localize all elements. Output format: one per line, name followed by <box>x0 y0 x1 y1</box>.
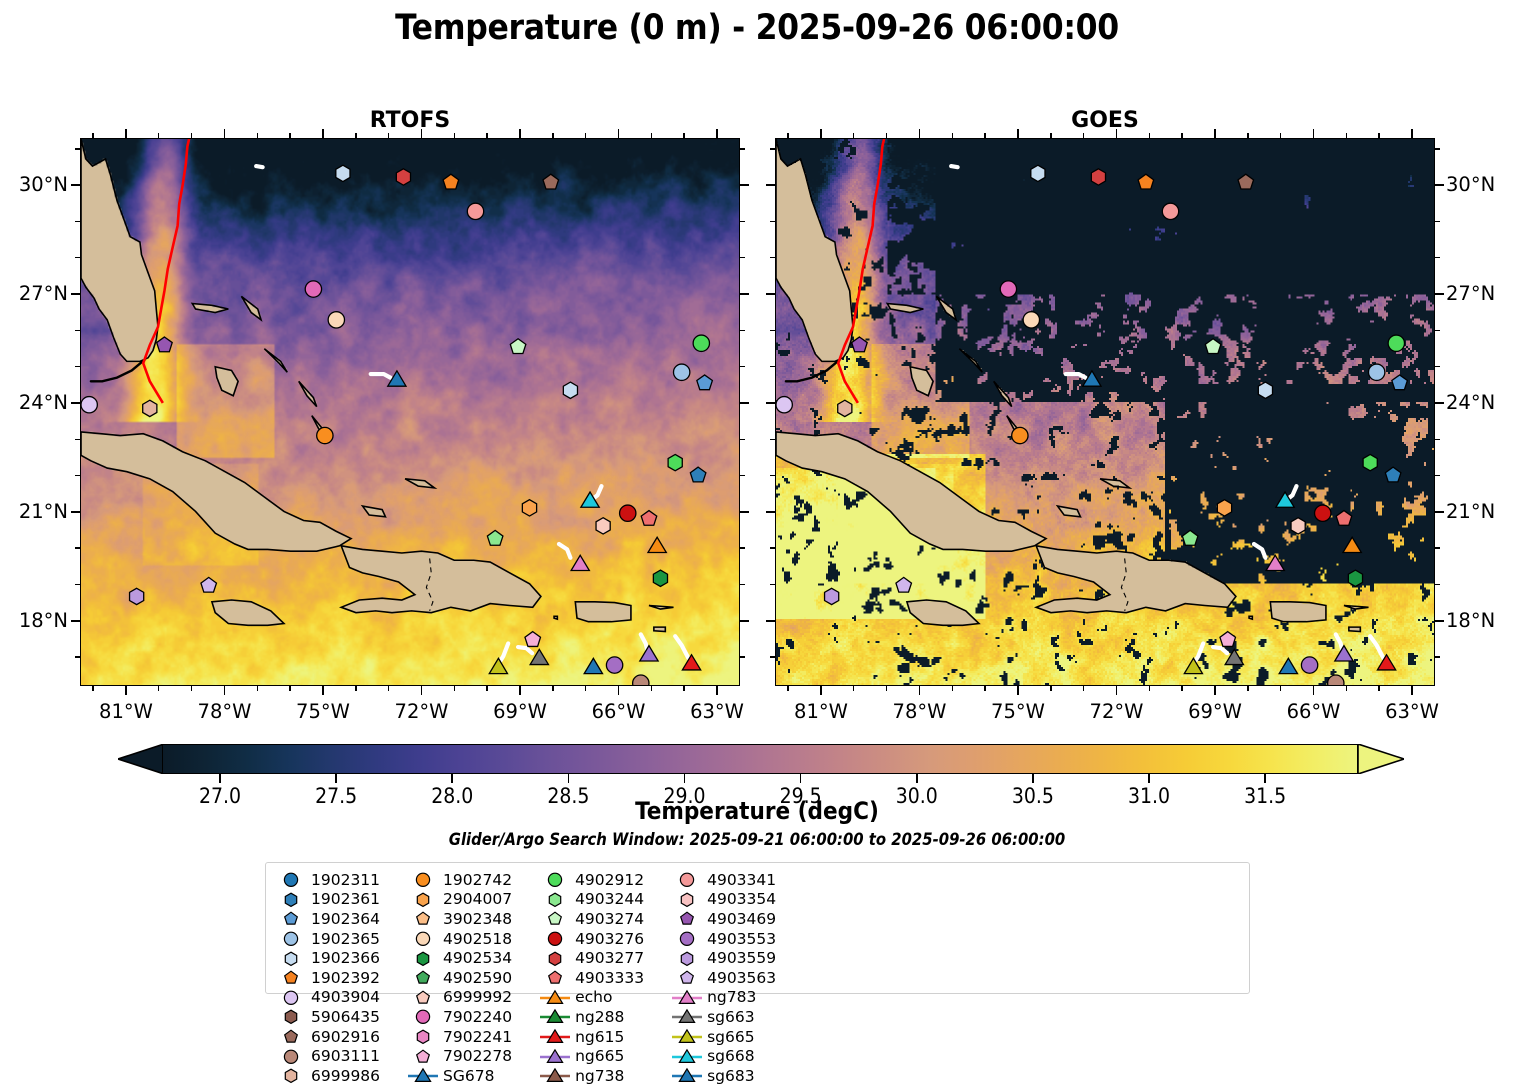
legend-marker-hexagon-icon <box>274 949 308 968</box>
legend-item-ng665[interactable]: ng665 <box>538 1046 644 1066</box>
legend-label: 4903274 <box>572 910 644 928</box>
legend-item-3902348[interactable]: 3902348 <box>406 909 512 929</box>
map-marker-1902366b[interactable] <box>563 382 577 398</box>
glider-track <box>559 544 570 558</box>
coastline <box>936 296 956 320</box>
map-marker-7902278[interactable] <box>525 632 541 647</box>
legend-label: 2904007 <box>440 890 512 908</box>
legend-marker-triangle-icon <box>670 1047 704 1066</box>
map-marker-4902518[interactable] <box>328 312 344 328</box>
colorbar-tick <box>568 774 570 783</box>
y-tick-right <box>1435 293 1444 295</box>
map-marker-4902534[interactable] <box>1348 570 1362 586</box>
coastline <box>241 296 261 320</box>
legend-item-echo[interactable]: echo <box>538 988 644 1008</box>
map-marker-7902240[interactable] <box>305 281 321 297</box>
legend-label: ng288 <box>572 1008 624 1026</box>
y-tick-right <box>740 402 749 404</box>
x-tick <box>1313 686 1315 695</box>
legend-item-4903276[interactable]: 4903276 <box>538 929 644 949</box>
map-marker-4903244[interactable] <box>487 530 503 545</box>
legend-item-6999992[interactable]: 6999992 <box>406 988 512 1008</box>
legend-label: ng665 <box>572 1047 624 1065</box>
coastline <box>363 506 386 517</box>
colorbar-tick <box>1264 774 1266 783</box>
legend-item-1902392[interactable]: 1902392 <box>274 968 380 988</box>
legend-label: 4902518 <box>440 930 512 948</box>
x-tick-label: 72°W <box>1076 700 1156 723</box>
map-marker-1902366[interactable] <box>336 165 350 181</box>
legend-marker-triangle-icon <box>670 988 704 1007</box>
x-minor-tick <box>158 686 159 691</box>
legend-marker-hexagon-icon <box>538 949 572 968</box>
map-marker-4903563[interactable] <box>201 577 217 592</box>
legend-item-4903341[interactable]: 4903341 <box>670 870 776 890</box>
legend-label: 6903111 <box>308 1047 380 1065</box>
map-marker-6999986[interactable] <box>838 400 852 416</box>
y-tick <box>71 511 80 513</box>
legend-label: 1902361 <box>308 890 380 908</box>
map-marker-4902912[interactable] <box>693 335 709 351</box>
map-marker-1902364[interactable] <box>1392 375 1408 390</box>
colorbar[interactable]: 27.027.528.028.529.029.530.030.531.031.5 <box>118 744 1402 774</box>
y-minor-tick-right <box>740 439 745 440</box>
legend-item-6903111[interactable]: 6903111 <box>274 1046 380 1066</box>
legend-label: 6999992 <box>440 988 512 1006</box>
map-marker-4902912[interactable] <box>1388 335 1404 351</box>
legend-label: 7902278 <box>440 1047 512 1065</box>
legend-marker-pentagon-icon <box>406 968 440 987</box>
map-marker-ng665[interactable] <box>1335 646 1353 661</box>
map-marker-7902278[interactable] <box>1220 632 1236 647</box>
map-marker-4903277[interactable] <box>396 169 410 185</box>
legend-column: ng783sg663sg665sg668sg683 <box>670 988 776 1086</box>
map-marker-4902912b[interactable] <box>668 454 682 470</box>
map-marker-4902912b[interactable] <box>1363 454 1377 470</box>
map-marker-4902518[interactable] <box>1023 312 1039 328</box>
coastline <box>776 139 853 361</box>
y-tick-label-right: 30°N <box>1446 173 1495 196</box>
y-minor-tick-right <box>740 475 745 476</box>
map-marker-6902916[interactable] <box>1238 174 1254 189</box>
map-marker-sg665[interactable] <box>489 658 507 673</box>
legend-marker-circle-icon <box>274 929 308 948</box>
map-marker-4903277[interactable] <box>1091 169 1105 185</box>
map-marker-echo[interactable] <box>648 537 666 552</box>
legend-label: 7902240 <box>440 1008 512 1026</box>
x-tick-label: 81°W <box>781 700 861 723</box>
legend-marker-triangle-icon <box>538 1027 572 1046</box>
legend-label: ng738 <box>572 1067 624 1085</box>
y-tick-right <box>1435 511 1444 513</box>
legend-marker-triangle-icon <box>670 1066 704 1085</box>
y-tick-right <box>1435 402 1444 404</box>
map-marker-6902916[interactable] <box>543 174 559 189</box>
legend-marker-pentagon-icon <box>538 968 572 987</box>
map-marker-2904007[interactable] <box>522 500 536 516</box>
legend-label: 1902742 <box>440 871 512 889</box>
y-tick <box>71 620 80 622</box>
legend-marker-hexagon-icon <box>274 890 308 909</box>
map-marker-6903111[interactable] <box>1328 675 1344 685</box>
y-tick-label-left: 18°N <box>0 609 68 632</box>
x-tick <box>421 686 423 695</box>
legend-label: 4903277 <box>572 949 644 967</box>
map-marker-sg683[interactable] <box>1279 658 1297 673</box>
legend-item-4903244[interactable]: 4903244 <box>538 890 644 910</box>
legend-item-sg668[interactable]: sg668 <box>670 1046 776 1066</box>
map-marker-4903341[interactable] <box>1162 203 1178 219</box>
legend-item-4903559[interactable]: 4903559 <box>670 948 776 968</box>
x-minor-tick <box>1083 686 1084 691</box>
legend-item-ng783[interactable]: ng783 <box>670 988 776 1008</box>
gulf-stream-contour <box>143 139 189 403</box>
legend-item-5906435[interactable]: 5906435 <box>274 1007 380 1027</box>
legend-marker-circle-icon <box>670 929 704 948</box>
map-marker-4903904[interactable] <box>81 397 97 413</box>
map-marker-2904007[interactable] <box>1217 500 1231 516</box>
legend-item-1902366[interactable]: 1902366 <box>274 948 380 968</box>
legend-marker-pentagon-icon <box>670 968 704 987</box>
colorbar-arrow-max <box>1358 744 1404 774</box>
legend[interactable]: 1902311190236119023641902365190236619023… <box>265 862 1250 994</box>
coastline <box>776 432 1046 551</box>
colorbar-tick <box>916 774 918 783</box>
legend-marker-pentagon-icon <box>538 909 572 928</box>
y-tick <box>71 402 80 404</box>
y-tick-label-right: 18°N <box>1446 609 1495 632</box>
map-marker-1902365[interactable] <box>1368 364 1384 380</box>
coastline <box>341 546 541 613</box>
x-tick-label: 78°W <box>184 700 264 723</box>
legend-item-1902364[interactable]: 1902364 <box>274 909 380 929</box>
legend-marker-pentagon-icon <box>406 988 440 1007</box>
search-window-caption: Glider/Argo Search Window: 2025-09-21 06… <box>0 830 1514 849</box>
map-marker-ng665[interactable] <box>640 646 658 661</box>
x-tick-label: 75°W <box>283 700 363 723</box>
map-marker-4903559[interactable] <box>130 588 144 604</box>
legend-column-gap <box>776 870 802 988</box>
map-marker-ng615[interactable] <box>682 655 700 670</box>
legend-marker-hexagon-icon <box>406 949 440 968</box>
legend-item-4903277[interactable]: 4903277 <box>538 948 644 968</box>
legend-marker-triangle-icon <box>538 1007 572 1026</box>
map-marker-1902361[interactable] <box>690 467 706 482</box>
x-tick <box>1116 686 1118 695</box>
legend-marker-hexagon-icon <box>670 890 704 909</box>
legend-item-4902534[interactable]: 4902534 <box>406 948 512 968</box>
legend-item-4903333[interactable]: 4903333 <box>538 968 644 988</box>
legend-label: 4903333 <box>572 969 644 987</box>
legend-column: 6999992790224079022417902278SG678 <box>406 988 512 1086</box>
coastline <box>910 367 933 396</box>
x-tick-label: 66°W <box>579 700 659 723</box>
x-tick-label: 75°W <box>978 700 1058 723</box>
legend-item-sg665[interactable]: sg665 <box>670 1027 776 1047</box>
legend-marker-circle-icon <box>274 870 308 889</box>
coastline <box>81 432 351 551</box>
map-marker-4903553[interactable] <box>606 657 622 673</box>
glider-track <box>1289 486 1296 498</box>
legend-marker-pentagon-icon <box>274 909 308 928</box>
legend-item-ng615[interactable]: ng615 <box>538 1027 644 1047</box>
legend-label: 1902366 <box>308 949 380 967</box>
map-marker-1902364[interactable] <box>697 375 713 390</box>
coastline <box>1036 546 1236 613</box>
legend-item-2904007[interactable]: 2904007 <box>406 890 512 910</box>
map-marker-4903276[interactable] <box>620 505 636 521</box>
map-marker-1902361[interactable] <box>1385 467 1401 482</box>
map-marker-4902534[interactable] <box>653 570 667 586</box>
legend-column-gap <box>644 870 670 988</box>
legend-item-4903354[interactable]: 4903354 <box>670 890 776 910</box>
legend-item-1902742[interactable]: 1902742 <box>406 870 512 890</box>
coastline <box>264 349 287 373</box>
legend-label: sg663 <box>704 1008 755 1026</box>
legend-column: echong288ng615ng665ng738 <box>538 988 644 1086</box>
legend-item-1902311[interactable]: 1902311 <box>274 870 380 890</box>
y-minor-tick-right <box>1435 475 1440 476</box>
map-marker-1902366[interactable] <box>1031 165 1045 181</box>
x-minor-tick <box>1050 686 1051 691</box>
legend-item-6999986[interactable]: 6999986 <box>274 1066 380 1086</box>
map-marker-6999986[interactable] <box>143 400 157 416</box>
map-marker-1902742[interactable] <box>317 427 333 443</box>
legend-column: 4903341490335449034694903553490355949035… <box>670 870 776 988</box>
legend-marker-hexagon-icon <box>406 1027 440 1046</box>
x-minor-tick <box>486 686 487 691</box>
y-minor-tick-right <box>740 547 745 548</box>
legend-label: sg683 <box>704 1067 755 1085</box>
legend-label: 5906435 <box>308 1008 380 1026</box>
legend-item-4902518[interactable]: 4902518 <box>406 929 512 949</box>
map-marker-4903469[interactable] <box>852 337 868 352</box>
legend-item-sg663[interactable]: sg663 <box>670 1007 776 1027</box>
y-tick-right <box>740 184 749 186</box>
legend-item-6902916[interactable]: 6902916 <box>274 1027 380 1047</box>
legend-item-4902912[interactable]: 4902912 <box>538 870 644 890</box>
map-marker-ng783[interactable] <box>1266 555 1284 570</box>
legend-column: 1902311190236119023641902365190236619023… <box>274 870 380 988</box>
legend-item-sg683[interactable]: sg683 <box>670 1066 776 1086</box>
y-tick-right <box>740 293 749 295</box>
x-tick-label: 81°W <box>86 700 166 723</box>
legend-item-4903274[interactable]: 4903274 <box>538 909 644 929</box>
x-minor-tick <box>289 686 290 691</box>
map-marker-1902392[interactable] <box>443 174 459 189</box>
coastline <box>405 479 434 488</box>
x-tick-label: 78°W <box>879 700 959 723</box>
colorbar-tick <box>1148 774 1150 783</box>
glider-track <box>641 634 648 650</box>
map-marker-4903559[interactable] <box>825 588 839 604</box>
legend-label: 6999986 <box>308 1067 380 1085</box>
legend-item-7902241[interactable]: 7902241 <box>406 1027 512 1047</box>
map-marker-1902742[interactable] <box>1012 427 1028 443</box>
legend-item-4903469[interactable]: 4903469 <box>670 909 776 929</box>
map-marker-sg683[interactable] <box>584 658 602 673</box>
y-tick-label-left: 24°N <box>0 391 68 414</box>
legend-label: 4903469 <box>704 910 776 928</box>
x-tick <box>1017 686 1019 695</box>
legend-marker-circle-icon <box>274 988 308 1007</box>
map-marker-4903244[interactable] <box>1182 530 1198 545</box>
map-marker-4903469[interactable] <box>157 337 173 352</box>
legend-label: 4903904 <box>308 988 380 1006</box>
legend-label: 4903563 <box>704 969 776 987</box>
legend-item-4903563[interactable]: 4903563 <box>670 968 776 988</box>
coastline <box>192 303 228 312</box>
legend-marker-hexagon-icon <box>538 890 572 909</box>
map-panel-rtofs[interactable] <box>80 138 740 686</box>
legend-item-7902278[interactable]: 7902278 <box>406 1046 512 1066</box>
map-panel-goes[interactable] <box>775 138 1435 686</box>
map-marker-ng615[interactable] <box>1377 655 1395 670</box>
colorbar-tick <box>335 774 337 783</box>
coastline <box>215 367 238 396</box>
x-minor-tick <box>1181 686 1182 691</box>
legend-marker-circle-icon <box>274 1047 308 1066</box>
legend-label: SG678 <box>440 1067 494 1085</box>
x-minor-tick <box>191 686 192 691</box>
glider-track <box>371 374 391 378</box>
legend-label: ng783 <box>704 988 756 1006</box>
coastline <box>575 602 631 622</box>
y-minor-tick-right <box>740 584 745 585</box>
glider-track <box>1370 636 1383 658</box>
map-marker-4903553[interactable] <box>1301 657 1317 673</box>
legend-marker-triangle-icon <box>538 1066 572 1085</box>
y-tick-right <box>1435 620 1444 622</box>
legend-marker-hexagon-icon <box>274 1007 308 1026</box>
legend-marker-circle-icon <box>406 929 440 948</box>
legend-column-gap <box>644 988 670 1086</box>
map-marker-ng783[interactable] <box>571 555 589 570</box>
legend-label: 3902348 <box>440 910 512 928</box>
y-tick-label-left: 30°N <box>0 173 68 196</box>
glider-track <box>1066 374 1086 378</box>
x-tick <box>224 686 226 695</box>
colorbar-tick <box>684 774 686 783</box>
legend-marker-pentagon-icon <box>406 909 440 928</box>
map-marker-6903111[interactable] <box>633 675 649 685</box>
y-tick-right <box>1435 184 1444 186</box>
map-marker-4903333[interactable] <box>641 511 657 526</box>
page-title: Temperature (0 m) - 2025-09-26 06:00:00 <box>0 8 1514 48</box>
legend-item-7902240[interactable]: 7902240 <box>406 1007 512 1027</box>
y-tick-label-left: 21°N <box>0 500 68 523</box>
legend-label: sg668 <box>704 1047 755 1065</box>
colorbar-tick <box>451 774 453 783</box>
legend-item-ng288[interactable]: ng288 <box>538 1007 644 1027</box>
map-marker-sg665[interactable] <box>1184 658 1202 673</box>
map-marker-1902365[interactable] <box>673 364 689 380</box>
x-minor-tick <box>355 686 356 691</box>
legend-item-1902365[interactable]: 1902365 <box>274 929 380 949</box>
coastline <box>1349 627 1360 631</box>
coastline <box>1344 605 1369 609</box>
x-minor-tick <box>1280 686 1281 691</box>
y-tick <box>71 293 80 295</box>
x-tick-label: 72°W <box>381 700 461 723</box>
legend-label: 4903354 <box>704 890 776 908</box>
y-minor-tick-right <box>740 148 745 149</box>
glider-track <box>675 636 688 658</box>
legend-marker-pentagon-icon <box>670 909 704 928</box>
x-minor-tick <box>853 686 854 691</box>
legend-marker-circle-icon <box>670 870 704 889</box>
map-marker-echo[interactable] <box>1343 537 1361 552</box>
coastline <box>959 349 982 373</box>
legend-item-4903553[interactable]: 4903553 <box>670 929 776 949</box>
y-minor-tick-right <box>740 366 745 367</box>
legend-marker-triangle-icon <box>538 1047 572 1066</box>
map-marker-4903341[interactable] <box>467 203 483 219</box>
map-marker-7902240[interactable] <box>1000 281 1016 297</box>
map-marker-4903274[interactable] <box>1205 339 1221 354</box>
legend-label: 1902311 <box>308 871 380 889</box>
coastline <box>81 139 158 361</box>
y-minor-tick-right <box>1435 221 1440 222</box>
colorbar-tick <box>800 774 802 783</box>
legend-marker-triangle-icon <box>406 1066 440 1085</box>
glider-track <box>951 166 957 167</box>
map-marker-1902392[interactable] <box>1138 174 1154 189</box>
coastline <box>212 600 284 625</box>
panel-title-rtofs: RTOFS <box>80 108 740 133</box>
map-marker-4903563[interactable] <box>896 577 912 592</box>
legend-item-4902590[interactable]: 4902590 <box>406 968 512 988</box>
y-tick-label-right: 21°N <box>1446 500 1495 523</box>
x-minor-tick <box>886 686 887 691</box>
legend-marker-hexagon-icon <box>406 890 440 909</box>
x-tick <box>618 686 620 695</box>
legend-label: 4902534 <box>440 949 512 967</box>
glider-track <box>256 166 262 167</box>
legend-grid: 1902311190236119023641902365190236619023… <box>274 870 802 1086</box>
map-marker-1902366b[interactable] <box>1258 382 1272 398</box>
x-minor-tick <box>552 686 553 691</box>
y-minor-tick-right <box>1435 656 1440 657</box>
legend-label: 6902916 <box>308 1028 380 1046</box>
legend-column: 4902912490324449032744903276490327749033… <box>538 870 644 988</box>
x-tick <box>919 686 921 695</box>
legend-marker-triangle-icon <box>538 988 572 1007</box>
map-marker-4903276[interactable] <box>1315 505 1331 521</box>
x-minor-tick <box>1149 686 1150 691</box>
legend-item-SG678[interactable]: SG678 <box>406 1066 512 1086</box>
legend-item-ng738[interactable]: ng738 <box>538 1066 644 1086</box>
x-minor-tick <box>952 686 953 691</box>
map-marker-6999992[interactable] <box>1291 518 1305 534</box>
x-minor-tick <box>1247 686 1248 691</box>
coastline <box>1100 479 1129 488</box>
map-marker-6999992[interactable] <box>596 518 610 534</box>
map-marker-4903274[interactable] <box>510 339 526 354</box>
legend-item-1902361[interactable]: 1902361 <box>274 890 380 910</box>
y-tick-right <box>740 620 749 622</box>
overlay-rtofs <box>81 139 739 685</box>
y-tick <box>766 184 775 186</box>
y-minor-tick-right <box>1435 547 1440 548</box>
map-marker-4903904[interactable] <box>776 397 792 413</box>
x-minor-tick <box>257 686 258 691</box>
y-minor-tick-right <box>1435 366 1440 367</box>
legend-item-4903904[interactable]: 4903904 <box>274 988 380 1008</box>
map-marker-4903333[interactable] <box>1336 511 1352 526</box>
x-tick <box>519 686 521 695</box>
x-minor-tick <box>585 686 586 691</box>
